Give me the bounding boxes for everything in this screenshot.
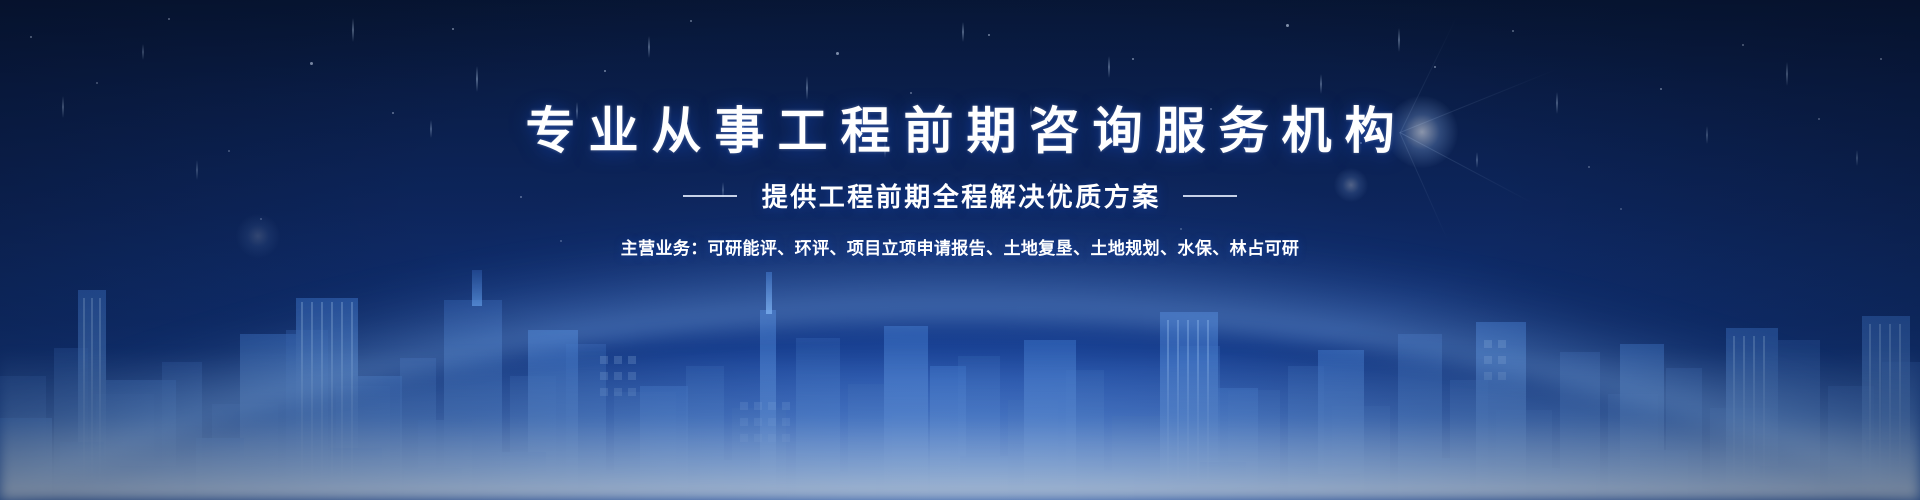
banner-headline: 专业从事工程前期咨询服务机构 (0, 104, 1920, 159)
banner-subtitle-row: 提供工程前期全程解决优质方案 (0, 177, 1920, 214)
divider-line-left (683, 195, 737, 197)
hero-banner: 专业从事工程前期咨询服务机构 提供工程前期全程解决优质方案 主营业务：可研能评、… (0, 0, 1920, 500)
banner-business-scope: 主营业务：可研能评、环评、项目立项申请报告、土地复垦、土地规划、水保、林占可研 (0, 234, 1920, 259)
divider-line-right (1183, 195, 1237, 197)
banner-text-block: 专业从事工程前期咨询服务机构 提供工程前期全程解决优质方案 主营业务：可研能评、… (0, 104, 1920, 259)
banner-subtitle: 提供工程前期全程解决优质方案 (759, 177, 1161, 214)
